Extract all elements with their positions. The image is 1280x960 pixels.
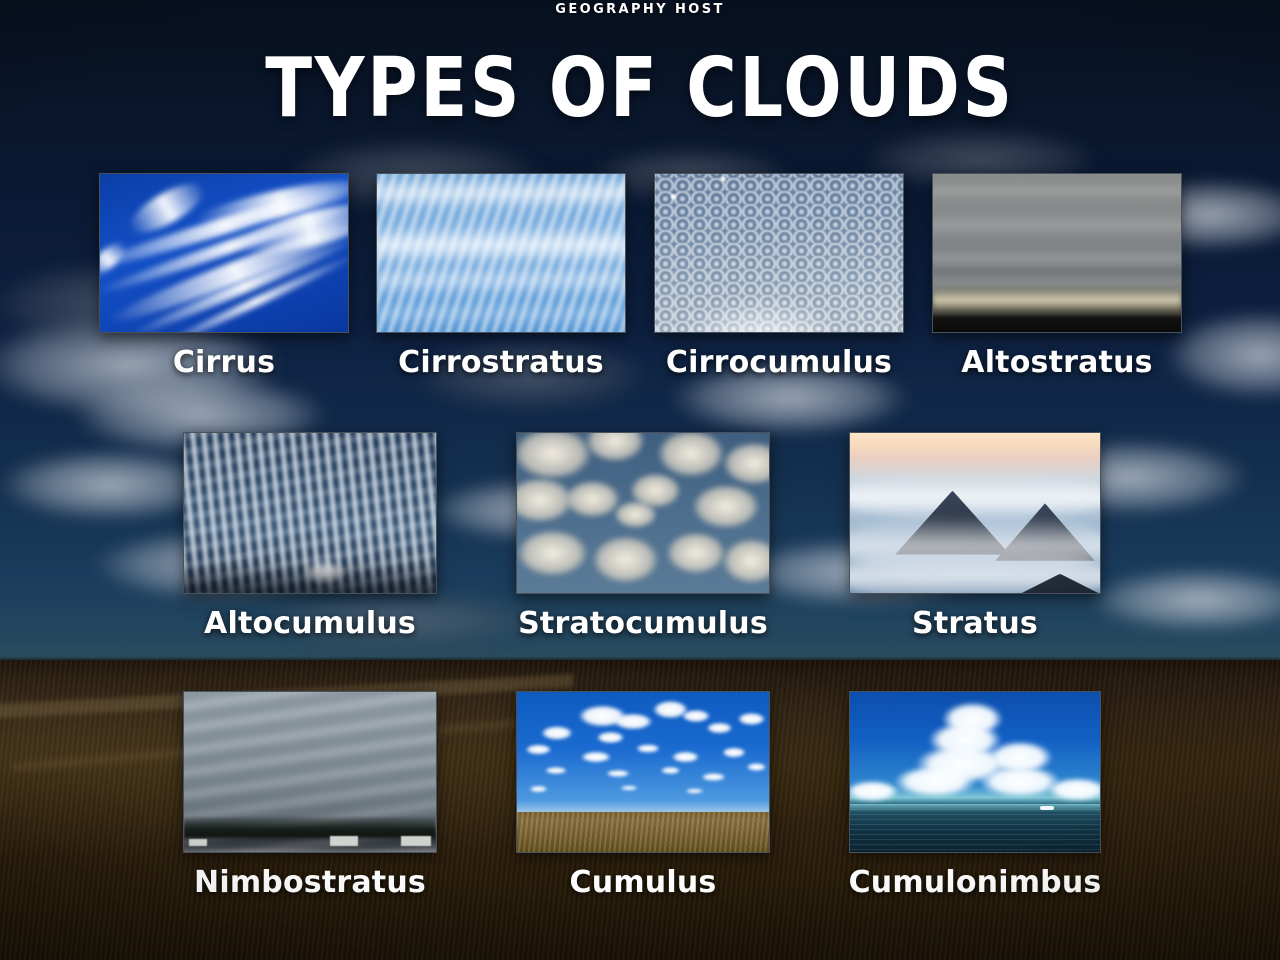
cloud-label: Nimbostratus: [194, 865, 426, 900]
cloud-card-cirrus[interactable]: Cirrus: [99, 173, 349, 333]
cloud-card-nimbostratus[interactable]: Nimbostratus: [183, 691, 437, 853]
cumulus-photo: [516, 691, 770, 853]
cloud-card-cumulus[interactable]: Cumulus: [516, 691, 770, 853]
cloud-card-stratus[interactable]: Stratus: [849, 432, 1101, 594]
cloud-card-cirrostratus[interactable]: Cirrostratus: [376, 173, 626, 333]
altostratus-photo: [932, 173, 1182, 333]
cloud-card-altocumulus[interactable]: Altocumulus: [183, 432, 437, 594]
altocumulus-photo: [183, 432, 437, 594]
nimbostratus-photo: [183, 691, 437, 853]
cloud-card-cumulonimbus[interactable]: Cumulonimbus: [849, 691, 1101, 853]
stratus-photo: [849, 432, 1101, 594]
cloud-label: Cirrostratus: [398, 345, 604, 380]
stratocumulus-photo: [516, 432, 770, 594]
cirrus-photo: [99, 173, 349, 333]
cloud-label: Stratus: [912, 606, 1038, 641]
cloud-label: Cirrocumulus: [666, 345, 892, 380]
cumulonimbus-photo: [849, 691, 1101, 853]
cloud-label: Cirrus: [173, 345, 275, 380]
cloud-card-cirrocumulus[interactable]: Cirrocumulus: [654, 173, 904, 333]
cloud-label: Cumulus: [570, 865, 717, 900]
cloud-label: Altocumulus: [204, 606, 416, 641]
cloud-card-altostratus[interactable]: Altostratus: [932, 173, 1182, 333]
cloud-label: Altostratus: [961, 345, 1152, 380]
cloud-card-stratocumulus[interactable]: Stratocumulus: [516, 432, 770, 594]
cirrostratus-photo: [376, 173, 626, 333]
cloud-types-poster: GEOGRAPHY HOST TYPES OF CLOUDS Cirrus: [0, 0, 1280, 960]
cirrocumulus-photo: [654, 173, 904, 333]
brand-label: GEOGRAPHY HOST: [0, 2, 1280, 17]
cloud-label: Stratocumulus: [518, 606, 768, 641]
page-title: TYPES OF CLOUDS: [45, 48, 1235, 130]
cloud-label: Cumulonimbus: [849, 865, 1102, 900]
